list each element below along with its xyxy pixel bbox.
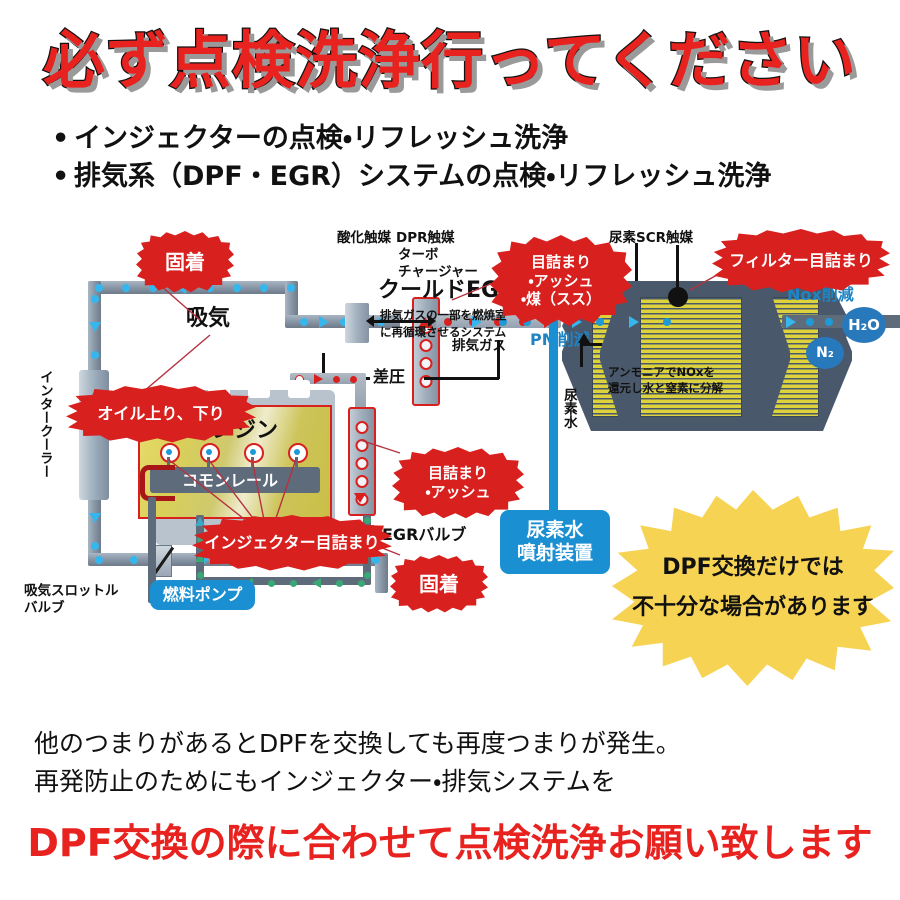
- intercooler-label: インタークーラー: [36, 370, 53, 478]
- callout-egr-clog: 目詰まり ・アッシュ: [392, 447, 524, 519]
- urea-inject-arrowhead: [578, 333, 590, 343]
- h2o-molecule: H₂O: [842, 307, 886, 343]
- urea-injector-unit: 尿素水 噴射装置: [500, 510, 610, 574]
- intake-label: 吸気: [186, 305, 230, 333]
- callout-injector-clog: インジェクター目詰まり: [192, 515, 392, 571]
- list-item-label: インジェクターの点検・リフレッシュ洗浄: [74, 123, 568, 154]
- oxidation-catalyst-label: 酸化触媒: [337, 230, 391, 247]
- urea-inject-arrow-stem: [580, 343, 583, 367]
- footer-line-2: 再発防止のためにもインジェクター・排気システムを: [34, 762, 616, 798]
- footer-cta: DPF交換の際に合わせて点検洗浄お願い致します: [0, 812, 900, 867]
- dp-bracket-line-r: [424, 377, 499, 380]
- injector-stem-2: [207, 457, 210, 469]
- engine-port-3: [248, 380, 270, 398]
- urea-water-line: [549, 315, 558, 515]
- injector-4: [288, 443, 308, 463]
- ammonia-note: アンモニアでNOxを 還元し水と窒素に分解: [608, 365, 723, 396]
- callout-filter-clog: フィルター目詰まり: [712, 229, 890, 293]
- star-line-1: DPF交換だけでは: [662, 548, 843, 588]
- intake-throttle-valve-label: 吸気スロットル バルブ: [24, 583, 119, 617]
- fuel-pump-badge: 燃料ポンプ: [150, 580, 255, 610]
- injector-2: [200, 443, 220, 463]
- dpr-catalyst-label: DPR触媒: [396, 230, 455, 247]
- injector-stem-4: [295, 457, 298, 469]
- exhaust-system-diagram: インタークーラー 吸気スロットル バルブ 吸気 ターボ チャージャー 排気ガス …: [0, 225, 900, 705]
- cool-egr-note: 排気ガスの一部を燃焼室 に再循環させるシステム: [380, 307, 507, 340]
- page-title: 必ず点検洗浄行ってください: [0, 10, 900, 100]
- egr-cooler-arrow: [354, 493, 366, 503]
- engine-port-4: [288, 380, 310, 398]
- fuel-inlet-hook: [140, 465, 175, 501]
- scr-catalyst-label: 尿素SCR触媒: [609, 230, 693, 247]
- n2-molecule: N₂: [806, 337, 844, 369]
- scr-inlet-dots: [596, 317, 671, 326]
- turbo-arrow-left: [366, 315, 374, 327]
- dp-bracket-right: [497, 340, 500, 379]
- dpf-warning-starburst: DPF交換だけでは 不十分な場合があります: [612, 490, 894, 686]
- callout-oil-updown: オイル上り、下り: [66, 385, 256, 443]
- scr-catalyst-leader: [676, 245, 679, 291]
- list-item-label: 排気系（DPF・EGR）システムの点検・リフレッシュ洗浄: [74, 161, 771, 192]
- callout-dpf-clog: 目詰まり ・アッシュ ・煤（スス）: [490, 235, 632, 327]
- common-rail-label: コモンレール: [182, 471, 278, 491]
- injector-1: [160, 443, 180, 463]
- callout-turbo-seizure: 固着: [136, 231, 234, 293]
- injector-stem-3: [251, 457, 254, 469]
- list-item: •排気系（DPF・EGR）システムの点検・リフレッシュ洗浄: [52, 158, 892, 196]
- turbocharger-label: ターボ チャージャー: [398, 247, 478, 281]
- urea-inject-arrow-bar: [580, 343, 602, 346]
- bullet-dot: •: [52, 120, 74, 158]
- footer-line-1: 他のつまりがあるとDPFを交換しても再度つまりが発生。: [34, 724, 681, 760]
- injector-3: [244, 443, 264, 463]
- star-line-2: 不十分な場合があります: [632, 588, 874, 628]
- egr-valve-label: EGRバルブ: [382, 525, 466, 545]
- scr-catalyst-element: [640, 297, 742, 417]
- list-item: •インジェクターの点検・リフレッシュ洗浄: [52, 120, 892, 158]
- benefit-list: •インジェクターの点検・リフレッシュ洗浄 •排気系（DPF・EGR）システムの点…: [52, 120, 892, 197]
- bullet-dot: •: [52, 158, 74, 196]
- callout-egr-seizure: 固着: [390, 555, 488, 613]
- urea-water-label: 尿素水: [560, 388, 577, 429]
- differential-pressure-label: 差圧: [373, 367, 405, 387]
